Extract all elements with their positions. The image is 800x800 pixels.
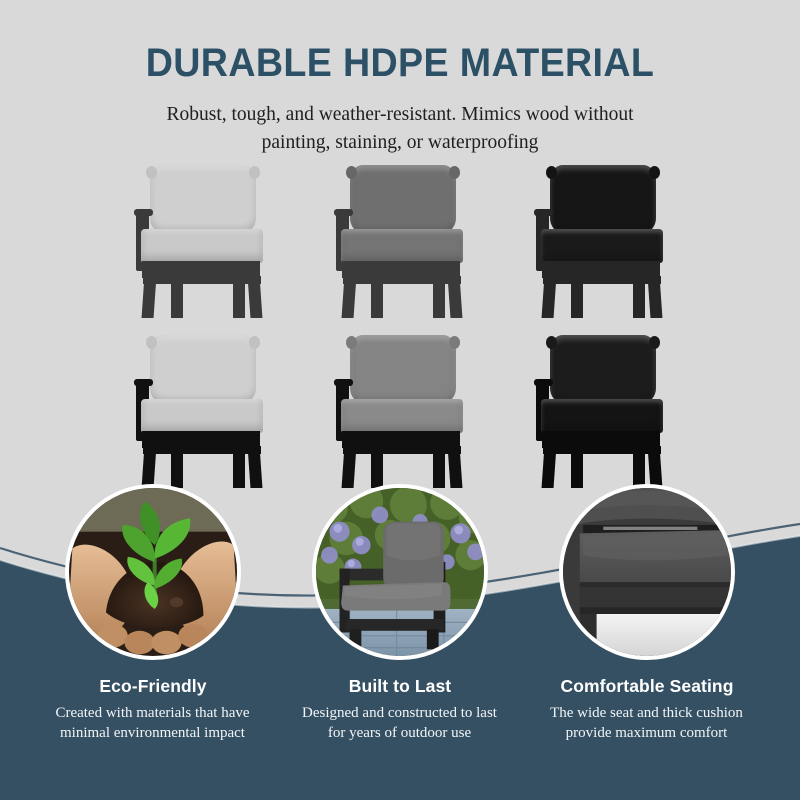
feature-title: Comfortable Seating: [559, 676, 735, 697]
chair-leg: [371, 276, 383, 318]
chair-leg: [171, 276, 183, 318]
chair-leg: [542, 276, 557, 318]
feature-list: Eco-Friendly Created with materials that…: [0, 484, 800, 744]
page-subtitle: Robust, tough, and weather-resistant. Mi…: [120, 101, 680, 158]
chair-leg: [433, 446, 445, 488]
feature-description: Created with materials that have minimal…: [45, 704, 260, 744]
infographic-root: DURABLE HDPE MATERIAL Robust, tough, and…: [0, 0, 800, 800]
feature-title: Eco-Friendly: [65, 676, 241, 697]
chair-back-cushion: [550, 335, 656, 403]
chair-seat-cushion: [141, 229, 263, 263]
feature-description: Designed and constructed to last for yea…: [292, 704, 507, 744]
chair-back-cushion: [350, 165, 456, 233]
chair-leg: [571, 276, 583, 318]
product-color-grid: [0, 163, 800, 503]
chair-seat-cushion: [341, 229, 463, 263]
chair-swatch-1-2[interactable]: [329, 163, 471, 321]
chair-swatch-1-3[interactable]: [529, 163, 671, 321]
chair-leg: [171, 446, 183, 488]
chair-leg: [342, 276, 357, 318]
page-title: DURABLE HDPE MATERIAL: [24, 42, 776, 84]
chair-back-cushion: [550, 165, 656, 233]
hands-holding-seedling-photo[interactable]: [65, 484, 241, 660]
chair-seat-cushion: [541, 229, 663, 263]
chair-leg: [233, 276, 245, 318]
chair-back-cushion: [150, 335, 256, 403]
chair-leg: [142, 446, 157, 488]
chair-leg: [233, 446, 245, 488]
feature-description: The wide seat and thick cushion provide …: [539, 704, 754, 744]
chair-back-cushion: [150, 165, 256, 233]
chair-seat-cushion: [141, 399, 263, 433]
feature-comfortable-seating: Comfortable Seating The wide seat and th…: [559, 484, 735, 744]
product-row-1: [0, 163, 800, 321]
subtitle-line-1: Robust, tough, and weather-resistant. Mi…: [120, 101, 680, 129]
feature-eco-friendly: Eco-Friendly Created with materials that…: [65, 484, 241, 744]
seat-cushion-closeup-photo[interactable]: [559, 484, 735, 660]
chair-leg: [633, 276, 645, 318]
feature-title: Built to Last: [312, 676, 488, 697]
chair-leg: [342, 446, 357, 488]
chair-back-cushion: [350, 335, 456, 403]
chair-swatch-2-2[interactable]: [329, 333, 471, 491]
chair-seat-cushion: [541, 399, 663, 433]
header-block: DURABLE HDPE MATERIAL Robust, tough, and…: [0, 0, 800, 158]
chair-leg: [633, 446, 645, 488]
chair-swatch-2-1[interactable]: [129, 333, 271, 491]
outdoor-chair-garden-photo[interactable]: [312, 484, 488, 660]
chair-leg: [142, 276, 157, 318]
chair-swatch-1-1[interactable]: [129, 163, 271, 321]
chair-seat-cushion: [341, 399, 463, 433]
chair-leg: [371, 446, 383, 488]
chair-leg: [571, 446, 583, 488]
chair-swatch-2-3[interactable]: [529, 333, 671, 491]
product-row-2: [0, 333, 800, 491]
feature-built-to-last: Built to Last Designed and constructed t…: [312, 484, 488, 744]
chair-leg: [433, 276, 445, 318]
subtitle-line-2: painting, staining, or waterproofing: [120, 129, 680, 157]
chair-leg: [542, 446, 557, 488]
